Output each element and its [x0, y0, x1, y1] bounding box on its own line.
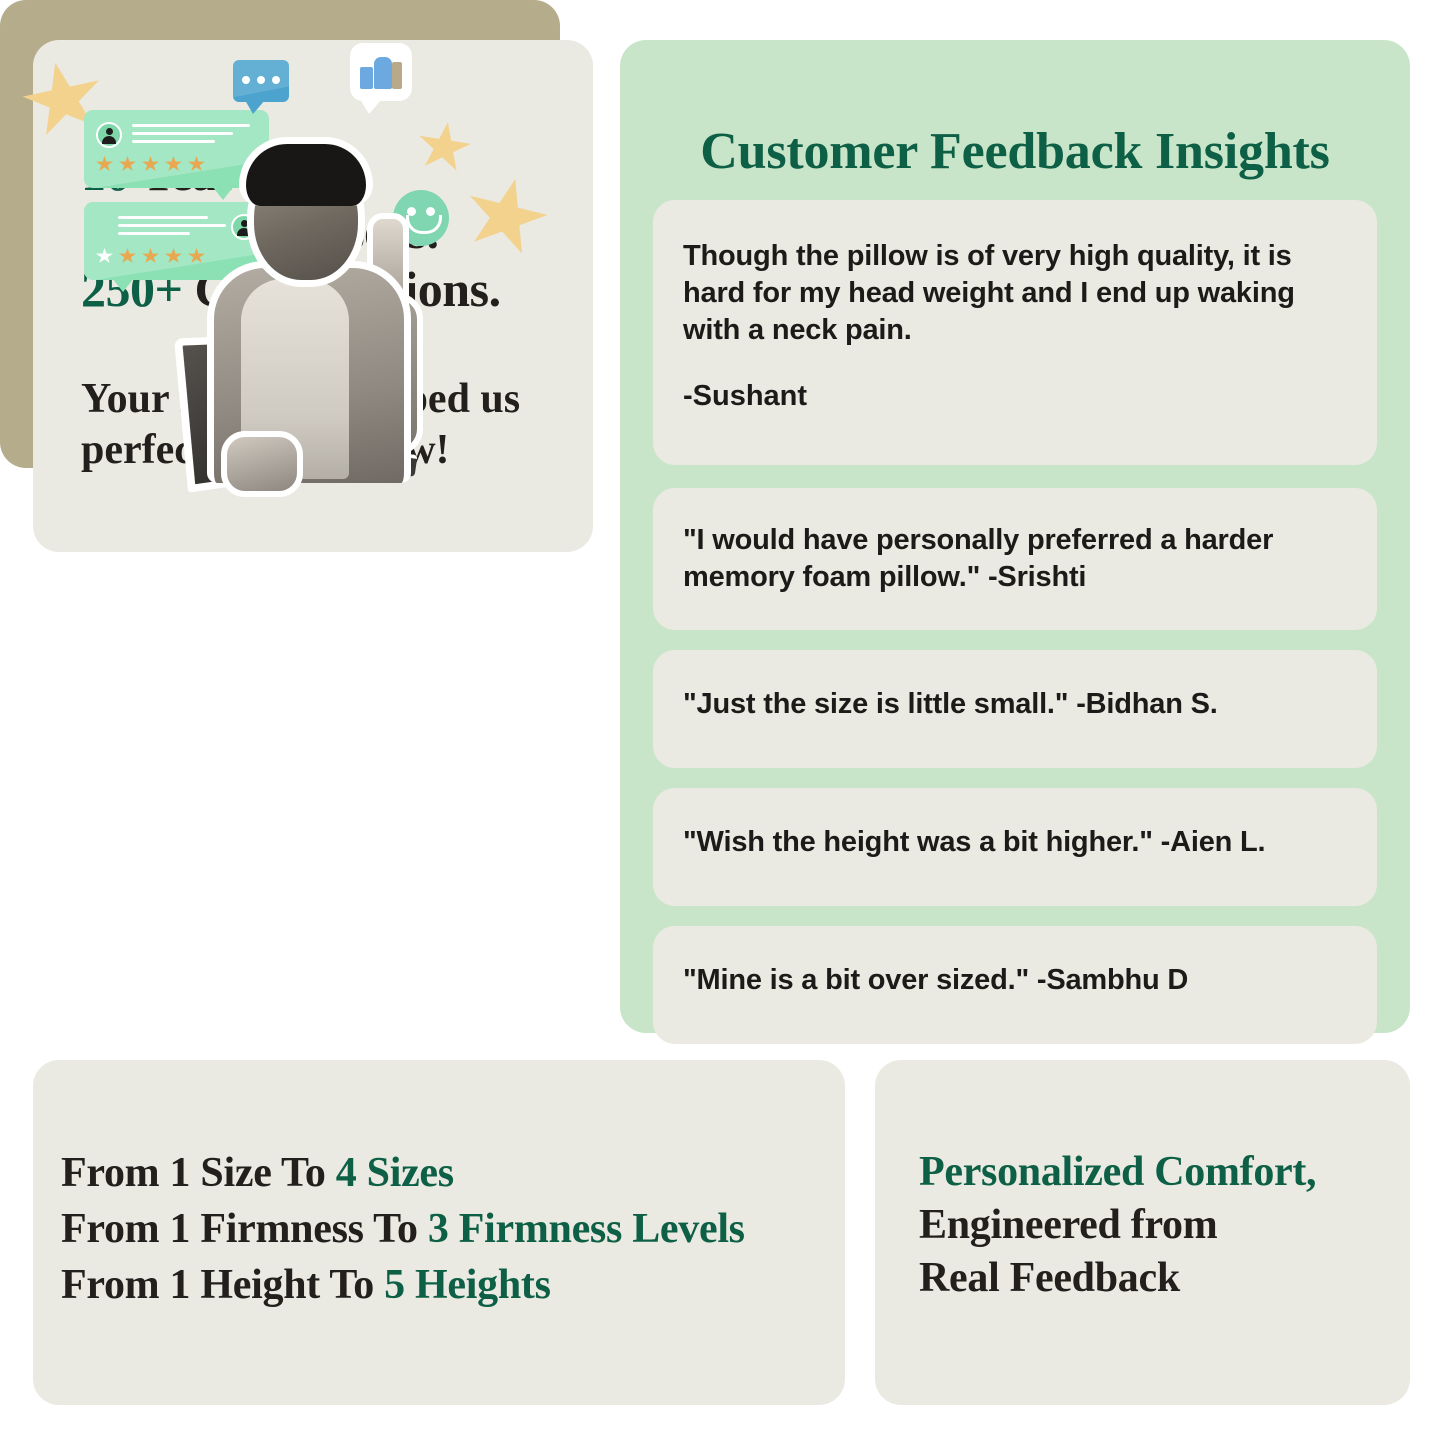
upgrade-highlight-sizes: 4 Sizes [336, 1150, 454, 1196]
upgrades-card: From 1 Size To 4 Sizes From 1 Firmness T… [33, 1060, 845, 1405]
upgrade-line-heights: From 1 Height To 5 Heights [61, 1258, 833, 1314]
testimonial-text: "Mine is a bit over sized." -Sambhu D [683, 962, 1353, 999]
upgrade-prefix-sizes: From 1 Size To [61, 1150, 336, 1196]
tagline-line-3: Real Feedback [919, 1252, 1394, 1305]
tagline-content: Personalized Comfort, Engineered from Re… [919, 1146, 1394, 1305]
testimonial-card: "Mine is a bit over sized." -Sambhu D [653, 926, 1377, 1044]
avatar [96, 122, 122, 148]
upgrades-content: From 1 Size To 4 Sizes From 1 Firmness T… [61, 1146, 833, 1314]
star-icon [458, 169, 554, 262]
testimonial-text: Though the pillow is of very high qualit… [683, 238, 1353, 349]
tagline-line-2: Engineered from [919, 1199, 1394, 1252]
testimonial-card: Though the pillow is of very high qualit… [653, 200, 1377, 465]
testimonial-card: "I would have personally preferred a har… [653, 488, 1377, 630]
infographic-root: 10 Years. 1 Million+ Users. 250+ Combina… [0, 0, 1445, 1445]
upgrade-prefix-firmness: From 1 Firmness To [61, 1206, 428, 1252]
upgrade-highlight-heights: 5 Heights [384, 1262, 550, 1308]
chat-bubble-icon [233, 60, 289, 102]
testimonial-card: "Just the size is little small." -Bidhan… [653, 650, 1377, 768]
upgrade-highlight-firmness: 3 Firmness Levels [428, 1206, 745, 1252]
feedback-panel: Customer Feedback Insights Though the pi… [620, 40, 1410, 1033]
tagline-line-1: Personalized Comfort, [919, 1146, 1394, 1199]
tagline-card: Personalized Comfort, Engineered from Re… [875, 1060, 1410, 1405]
upgrade-prefix-heights: From 1 Height To [61, 1262, 384, 1308]
testimonial-text: "I would have personally preferred a har… [683, 522, 1353, 596]
person-photo [175, 125, 435, 468]
thumbs-up-icon [350, 43, 412, 101]
testimonial-text: "Just the size is little small." -Bidhan… [683, 686, 1353, 723]
testimonial-card: "Wish the height was a bit higher." -Aie… [653, 788, 1377, 906]
collage [0, 0, 560, 468]
upgrade-line-firmness: From 1 Firmness To 3 Firmness Levels [61, 1202, 833, 1258]
testimonial-text: "Wish the height was a bit higher." -Aie… [683, 824, 1353, 861]
photo-collage-card [0, 0, 560, 468]
testimonial-author: -Sushant [683, 380, 807, 413]
page-title: Customer Feedback Insights [620, 122, 1410, 181]
upgrade-line-sizes: From 1 Size To 4 Sizes [61, 1146, 833, 1202]
